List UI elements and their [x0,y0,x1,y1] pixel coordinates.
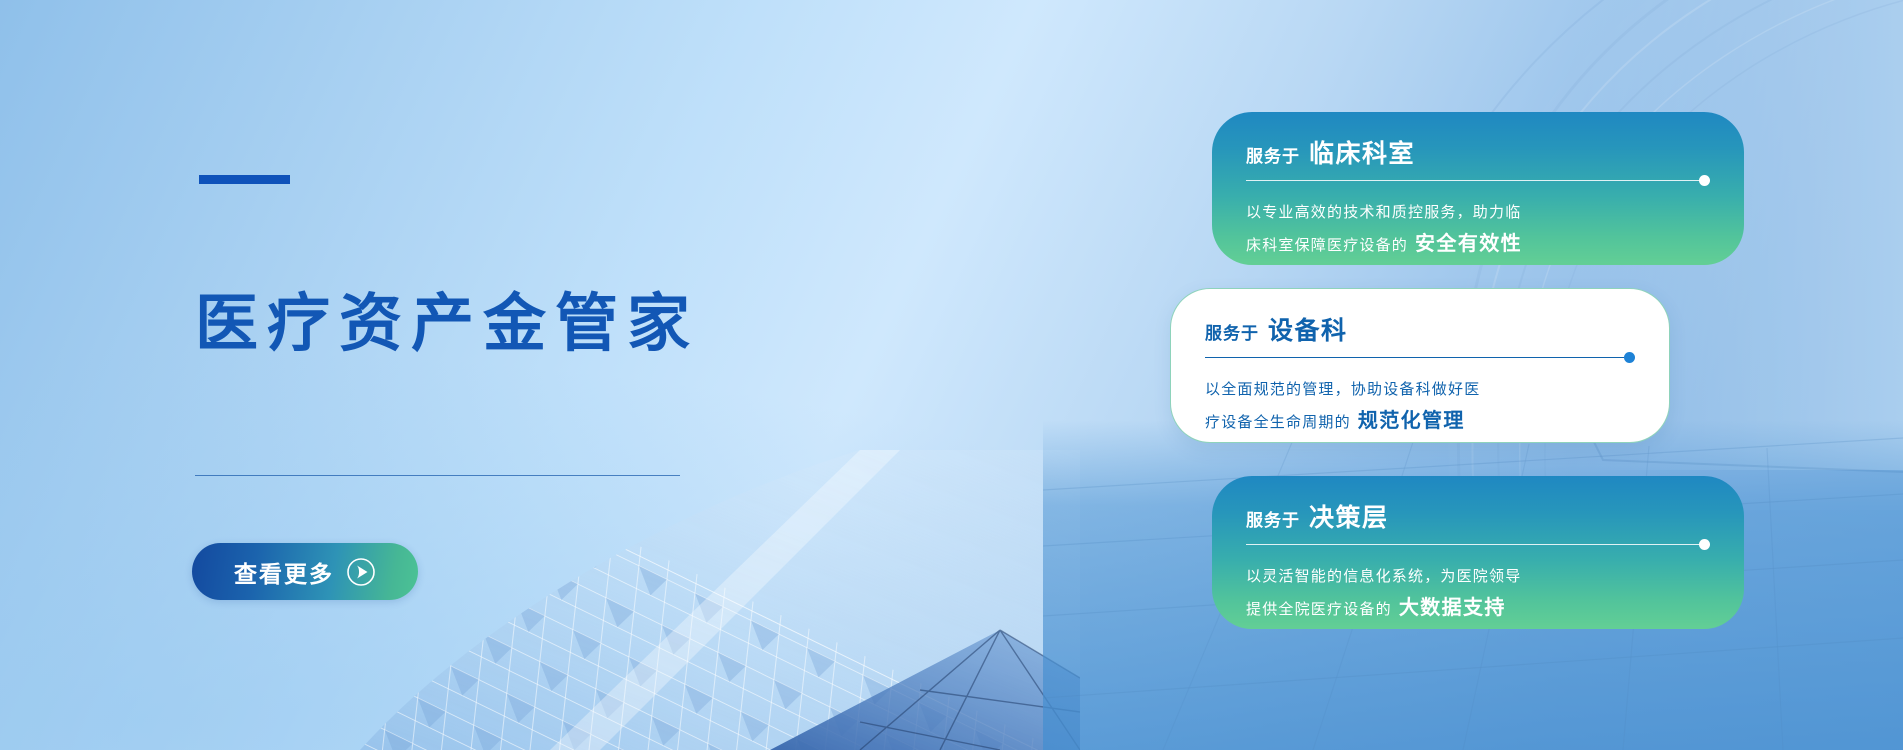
service-card-list: 服务于 临床科室 以专业高效的技术和质控服务，助力临 床科室保障医疗设备的 安全… [0,0,1903,750]
card-heading: 服务于 设备科 [1205,319,1635,344]
card-head-target: 决策层 [1309,506,1389,531]
card-rule-line [1246,544,1700,545]
card-rule-dot [1624,352,1635,363]
card-body: 以专业高效的技术和质控服务，助力临 床科室保障医疗设备的 安全有效性 [1246,199,1710,263]
service-card-clinical-department[interactable]: 服务于 临床科室 以专业高效的技术和质控服务，助力临 床科室保障医疗设备的 安全… [1212,112,1744,265]
card-body: 以全面规范的管理，协助设备科做好医 疗设备全生命周期的 规范化管理 [1205,376,1635,440]
card-body-highlight: 安全有效性 [1415,233,1522,255]
card-body-text-2: 疗设备全生命周期的 [1205,414,1351,431]
card-rule [1246,173,1710,189]
hero-banner: 医疗资产金管家 查看更多 服务于 临床科室 以专业高效的技术和质控服务，助力临 [0,0,1903,750]
card-body-line-2: 床科室保障医疗设备的 安全有效性 [1246,226,1710,262]
card-rule-line [1205,357,1625,358]
card-body-line-2: 提供全院医疗设备的 大数据支持 [1246,590,1710,626]
card-rule-dot [1699,539,1710,550]
card-head-target: 设备科 [1268,319,1348,344]
card-heading: 服务于 临床科室 [1246,142,1710,167]
card-body: 以灵活智能的信息化系统，为医院领导 提供全院医疗设备的 大数据支持 [1246,563,1710,627]
card-body-highlight: 规范化管理 [1358,410,1465,432]
card-body-line-1: 以全面规范的管理，协助设备科做好医 [1205,376,1635,403]
card-body-line-1: 以灵活智能的信息化系统，为医院领导 [1246,563,1710,590]
service-card-decision-makers[interactable]: 服务于 决策层 以灵活智能的信息化系统，为医院领导 提供全院医疗设备的 大数据支… [1212,476,1744,629]
card-body-highlight: 大数据支持 [1399,597,1506,619]
card-head-target: 临床科室 [1309,142,1415,167]
card-rule-line [1246,180,1700,181]
card-head-prefix: 服务于 [1246,148,1300,165]
card-body-text-1: 以专业高效的技术和质控服务，助力临 [1246,204,1521,221]
card-rule [1205,350,1635,366]
service-card-equipment-department[interactable]: 服务于 设备科 以全面规范的管理，协助设备科做好医 疗设备全生命周期的 规范化管… [1170,288,1670,443]
card-head-prefix: 服务于 [1246,512,1300,529]
card-body-text-1: 以全面规范的管理，协助设备科做好医 [1205,381,1480,398]
card-rule [1246,537,1710,553]
card-body-line-1: 以专业高效的技术和质控服务，助力临 [1246,199,1710,226]
card-body-text-1: 以灵活智能的信息化系统，为医院领导 [1246,568,1521,585]
card-body-line-2: 疗设备全生命周期的 规范化管理 [1205,403,1635,439]
card-body-text-2: 床科室保障医疗设备的 [1246,237,1408,254]
card-body-text-2: 提供全院医疗设备的 [1246,601,1392,618]
card-rule-dot [1699,175,1710,186]
card-heading: 服务于 决策层 [1246,506,1710,531]
card-head-prefix: 服务于 [1205,325,1259,342]
